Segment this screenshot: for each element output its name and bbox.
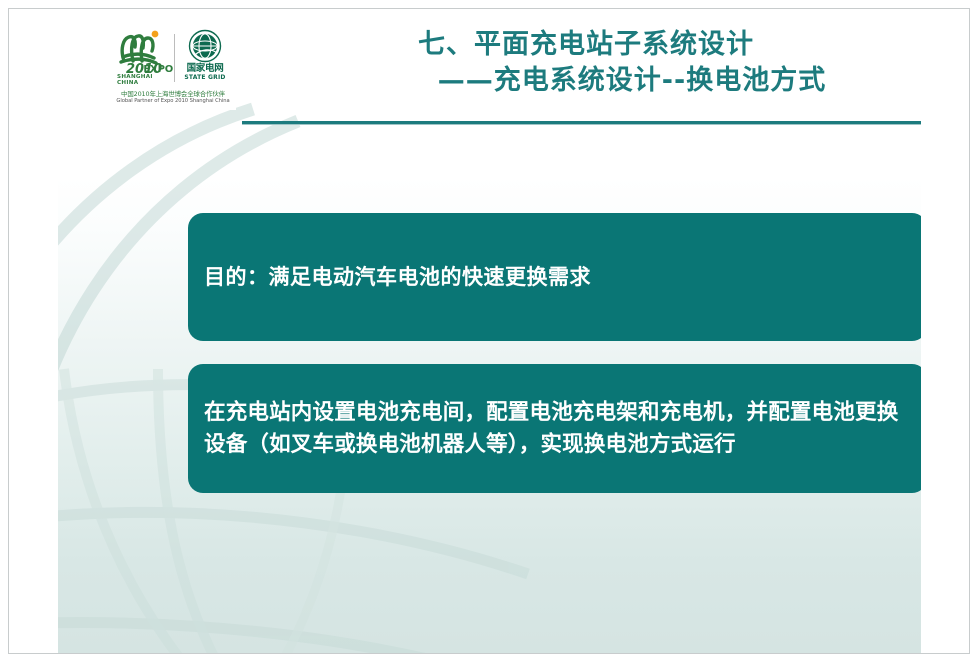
state-grid-en-label: STATE GRID	[184, 74, 225, 81]
callout-purpose-text: 目的：满足电动汽车电池的快速更换需求	[204, 262, 591, 292]
page-title: 七、平面充电站子系统设计 ——充电系统设计--换电池方式	[242, 27, 921, 99]
expo-2010-logo-icon: EXPO 2010 SHANGHAI CHINA	[110, 27, 174, 88]
globe-watermark	[58, 69, 588, 653]
partner-caption-en: Global Partner of Expo 2010 Shanghai Chi…	[116, 98, 229, 105]
title-underline-rule	[242, 121, 921, 125]
partner-logo-block: EXPO 2010 SHANGHAI CHINA	[110, 27, 236, 110]
slide-content-panel: EXPO 2010 SHANGHAI CHINA	[58, 9, 921, 653]
page-title-line-1: 七、平面充电站子系统设计	[242, 27, 921, 63]
callout-detail-text: 在充电站内设置电池充电间，配置电池充电架和充电机，并配置电池更换设备（如叉车或换…	[204, 397, 911, 461]
state-grid-logo-icon: 国家电网 STATE GRID	[175, 27, 235, 88]
slide-header: EXPO 2010 SHANGHAI CHINA	[58, 9, 921, 139]
logo-row: EXPO 2010 SHANGHAI CHINA	[110, 27, 236, 88]
page-title-line-2: ——充电系统设计--换电池方式	[242, 63, 921, 99]
expo-city-label: SHANGHAI CHINA	[117, 74, 174, 86]
slide-frame: EXPO 2010 SHANGHAI CHINA	[8, 8, 970, 654]
callout-detail: 在充电站内设置电池充电间，配置电池充电架和充电机，并配置电池更换设备（如叉车或换…	[188, 364, 921, 493]
callout-purpose: 目的：满足电动汽车电池的快速更换需求	[188, 213, 921, 341]
state-grid-cn-label: 国家电网	[187, 64, 224, 74]
partner-caption-cn: 中国2010年上海世博会全球合作伙伴	[121, 90, 225, 98]
